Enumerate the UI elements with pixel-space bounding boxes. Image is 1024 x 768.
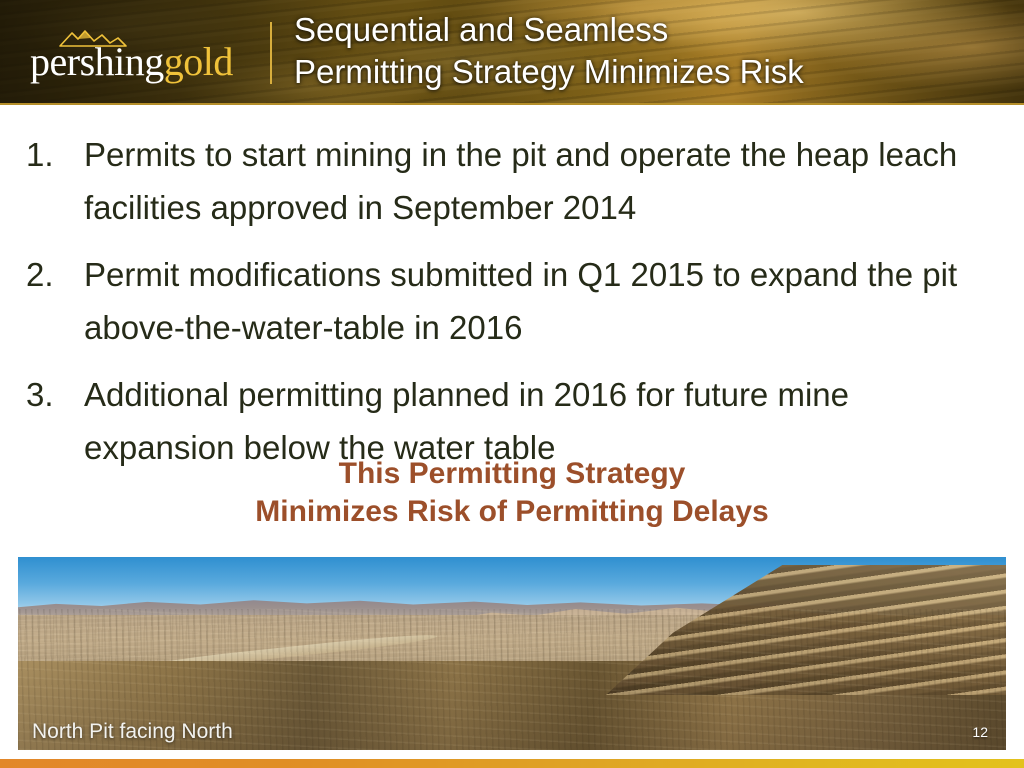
list-item-number: 3. <box>26 368 78 421</box>
list-item: 2. Permit modifications submitted in Q1 … <box>0 248 1024 354</box>
slide-title-line-1: Sequential and Seamless <box>294 9 994 51</box>
photo-pit-bench <box>18 748 1006 750</box>
callout-text: This Permitting Strategy Minimizes Risk … <box>0 455 1024 531</box>
slide-title-line-2: Permitting Strategy Minimizes Risk <box>294 51 994 93</box>
list-item-text: Permit modifications submitted in Q1 201… <box>84 248 994 354</box>
slide-number: 12 <box>972 724 988 740</box>
footer-accent-bar <box>0 759 1024 768</box>
slide: pershinggold Sequential and Seamless Per… <box>0 0 1024 768</box>
list-item-number: 1. <box>26 128 78 181</box>
logo-wordmark: pershinggold <box>30 39 233 85</box>
list-item-text: Permits to start mining in the pit and o… <box>84 128 994 234</box>
open-pit-mine-photo: North Pit facing North 12 <box>18 557 1006 750</box>
list-item: 1. Permits to start mining in the pit an… <box>0 128 1024 234</box>
list-item-number: 2. <box>26 248 78 301</box>
logo-divider <box>270 22 272 84</box>
photo-caption: North Pit facing North <box>32 719 233 744</box>
callout-line-2: Minimizes Risk of Permitting Delays <box>0 493 1024 531</box>
slide-header: pershinggold Sequential and Seamless Per… <box>0 0 1024 105</box>
logo-word-gold: gold <box>164 39 233 84</box>
header-bottom-rule <box>0 103 1024 105</box>
callout-line-1: This Permitting Strategy <box>0 455 1024 493</box>
numbered-list: 1. Permits to start mining in the pit an… <box>0 128 1024 488</box>
slide-title: Sequential and Seamless Permitting Strat… <box>294 9 994 93</box>
logo-word-pershing: pershing <box>30 39 164 84</box>
pershing-gold-logo: pershinggold <box>30 31 255 89</box>
